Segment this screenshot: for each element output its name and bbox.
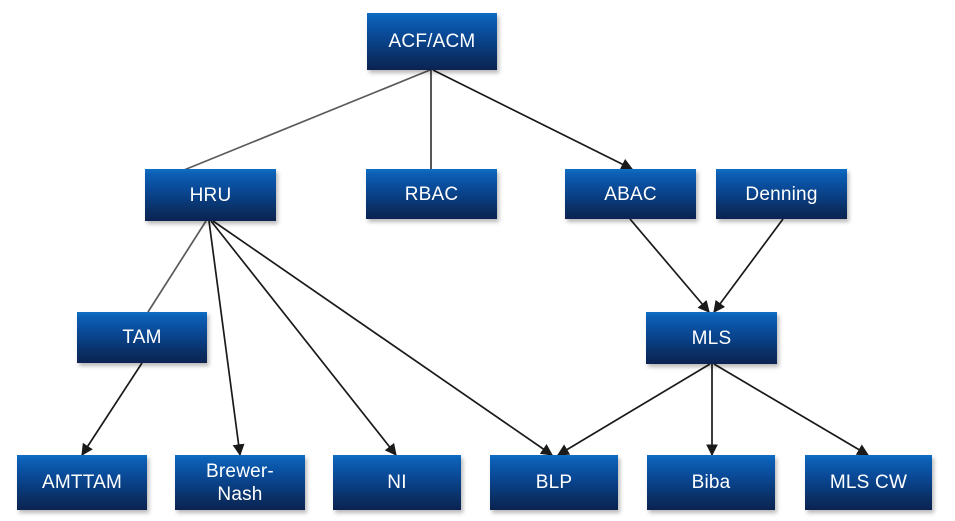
node-mls[interactable]: MLS xyxy=(646,312,777,364)
node-rbac[interactable]: RBAC xyxy=(366,169,497,219)
node-label-ni: NI xyxy=(337,471,457,494)
edge-abac-to-mls xyxy=(630,219,709,312)
diagram-canvas: ACF/ACMHRURBACABACDenningTAMMLSAMTTAMBre… xyxy=(0,0,955,521)
edge-hru-to-brewer-nash xyxy=(209,221,240,455)
edge-hru-to-blp xyxy=(213,221,552,455)
node-label-acf-acm: ACF/ACM xyxy=(371,30,493,53)
edge-denning-to-mls xyxy=(714,219,783,312)
node-label-denning: Denning xyxy=(720,183,843,206)
node-brewer-nash[interactable]: Brewer- Nash xyxy=(175,455,305,510)
node-label-brewer-nash: Brewer- Nash xyxy=(179,460,301,506)
node-label-mls-cw: MLS CW xyxy=(809,471,928,494)
node-label-biba: Biba xyxy=(651,471,771,494)
node-label-tam: TAM xyxy=(81,326,203,349)
node-label-hru: HRU xyxy=(149,184,272,207)
edge-hru-to-tam xyxy=(148,221,206,312)
edge-mls-to-mls-cw xyxy=(714,364,868,455)
node-label-rbac: RBAC xyxy=(370,183,493,206)
node-denning[interactable]: Denning xyxy=(716,169,847,219)
node-acf-acm[interactable]: ACF/ACM xyxy=(367,13,497,70)
node-tam[interactable]: TAM xyxy=(77,312,207,363)
edge-mls-to-blp xyxy=(558,364,710,455)
node-biba[interactable]: Biba xyxy=(647,455,775,510)
edge-tam-to-amttam xyxy=(82,363,142,455)
edge-acf-acm-to-abac xyxy=(433,70,632,169)
node-hru[interactable]: HRU xyxy=(145,169,276,221)
node-blp[interactable]: BLP xyxy=(490,455,618,510)
node-label-mls: MLS xyxy=(650,327,773,350)
edge-layer xyxy=(0,0,955,521)
node-abac[interactable]: ABAC xyxy=(565,169,696,219)
node-label-amttam: AMTTAM xyxy=(21,471,143,494)
edge-acf-acm-to-hru xyxy=(184,70,430,170)
node-label-blp: BLP xyxy=(494,471,614,494)
node-amttam[interactable]: AMTTAM xyxy=(17,455,147,510)
node-ni[interactable]: NI xyxy=(333,455,461,510)
edge-hru-to-ni xyxy=(211,221,396,455)
node-label-abac: ABAC xyxy=(569,183,692,206)
node-mls-cw[interactable]: MLS CW xyxy=(805,455,932,510)
